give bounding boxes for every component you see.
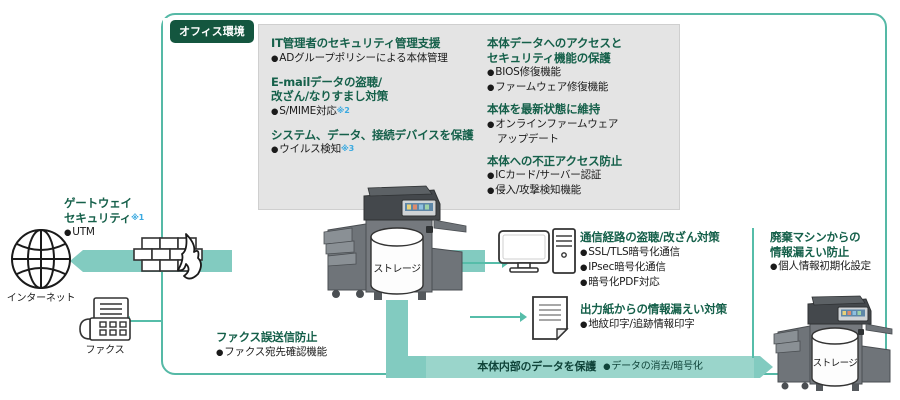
fax-block-heading: ファクス誤送信防止 [216, 330, 327, 345]
connector-arrow-to-paper [520, 312, 527, 322]
group-item: 侵入/攻撃検知機能 [487, 183, 677, 198]
feature-group-email: E-mailデータの盗聴/ 改ざん/なりすまし対策 S/MIME対応※2 [271, 75, 481, 119]
disposal-storage-cylinder: ストレージ [810, 328, 860, 386]
connector-line-fax-horizontal [130, 320, 163, 322]
security-diagram: オフィス環境 IT管理者のセキュリティ管理支援 ADグループポリシーによる本体管… [0, 0, 900, 400]
strip-item: データの消去/暗号化 [603, 360, 703, 374]
group-item: ADグループポリシーによる本体管理 [271, 51, 481, 66]
central-storage-label: ストレージ [369, 260, 425, 275]
group-heading: 本体への不正アクセス防止 [487, 154, 677, 169]
gateway-heading-line-1: ゲートウェイ [64, 196, 144, 211]
server-tower-icon [552, 228, 576, 274]
printed-document-icon [532, 296, 568, 340]
feature-group-system: システム、データ、接続デバイスを保護 ウイルス検知※3 [271, 128, 481, 158]
connector-line-right-vertical [752, 228, 754, 358]
group-heading: 本体を最新状態に維持 [487, 102, 677, 117]
group-heading-line-2: 改ざん/なりすまし対策 [271, 89, 481, 104]
group-item: S/MIME対応※2 [271, 104, 481, 119]
office-environment-badge: オフィス環境 [170, 20, 254, 43]
group-item-continued: アップデート [487, 132, 677, 147]
disposal-storage-label: ストレージ [810, 355, 860, 369]
network-security-block: 通信経路の盗聴/改ざん対策 SSL/TLS暗号化通信 IPsec暗号化通信 暗号… [580, 230, 720, 290]
network-block-item: IPsec暗号化通信 [580, 260, 720, 275]
fax-label: ファクス [70, 344, 140, 357]
internet-globe-icon [10, 228, 72, 290]
central-storage-cylinder: ストレージ [369, 228, 425, 294]
group-heading: システム、データ、接続デバイスを保護 [271, 128, 481, 143]
group-item: ICカード/サーバー認証 [487, 168, 677, 183]
network-block-item: SSL/TLS暗号化通信 [580, 245, 720, 260]
group-item: ファームウェア修復機能 [487, 80, 677, 95]
group-heading-line-1: E-mailデータの盗聴/ [271, 75, 481, 90]
disposal-block-heading-line-1: 廃棄マシンからの [770, 230, 871, 245]
fax-machine-icon [76, 296, 132, 342]
fax-block-item: ファクス宛先確認機能 [216, 345, 327, 360]
group-item: BIOS修復機能 [487, 65, 677, 80]
gateway-heading-text: セキュリティ [64, 211, 131, 225]
footnote-marker: ※3 [341, 144, 354, 153]
disposal-block-heading-line-2: 情報漏えい防止 [770, 245, 871, 260]
feature-group-device-data: 本体データへのアクセスと セキュリティ機能の保護 BIOS修復機能 ファームウェ… [487, 36, 677, 95]
disposal-block-item: 個人情報初期化設定 [770, 259, 871, 274]
footnote-marker: ※2 [337, 106, 350, 115]
gateway-heading-line-2: セキュリティ※1 [64, 211, 144, 226]
internal-data-protection-strip: 本体内部のデータを保護 データの消去/暗号化 [426, 356, 754, 378]
group-item: ウイルス検知※3 [271, 142, 481, 157]
paper-security-block: 出力紙からの情報漏えい対策 地紋印字/追跡情報印字 [580, 302, 727, 332]
item-text: S/MIME対応 [279, 105, 336, 117]
fax-prevention-block: ファクス誤送信防止 ファクス宛先確認機能 [216, 330, 327, 360]
strip-heading: 本体内部のデータを保護 [477, 360, 596, 375]
footnote-marker: ※1 [131, 213, 144, 222]
paper-block-item: 地紋印字/追跡情報印字 [580, 317, 727, 332]
gateway-item: UTM [64, 225, 144, 240]
panel-right-column: 本体データへのアクセスと セキュリティ機能の保護 BIOS修復機能 ファームウェ… [487, 36, 677, 198]
paper-block-heading: 出力紙からの情報漏えい対策 [580, 302, 727, 317]
firewall-icon [140, 228, 208, 290]
item-text: ウイルス検知 [279, 143, 341, 155]
group-heading-line-1: 本体データへのアクセスと [487, 36, 677, 51]
network-block-heading: 通信経路の盗聴/改ざん対策 [580, 230, 720, 245]
group-heading-line-2: セキュリティ機能の保護 [487, 51, 677, 66]
panel-left-column: IT管理者のセキュリティ管理支援 ADグループポリシーによる本体管理 E-mai… [271, 36, 481, 157]
gateway-security-block: ゲートウェイ セキュリティ※1 UTM [64, 196, 144, 240]
network-block-item: 暗号化PDF対応 [580, 275, 720, 290]
disposal-security-block: 廃棄マシンからの 情報漏えい防止 個人情報初期化設定 [770, 230, 871, 274]
internet-label: インターネット [0, 292, 82, 305]
flow-band-mfp-down [386, 300, 408, 362]
client-pc-icon [498, 230, 550, 274]
feature-group-unauthorized-access: 本体への不正アクセス防止 ICカード/サーバー認証 侵入/攻撃検知機能 [487, 154, 677, 199]
connector-line-mfp-paper [470, 316, 520, 318]
feature-group-firmware: 本体を最新状態に維持 オンラインファームウェア アップデート [487, 102, 677, 147]
group-heading: IT管理者のセキュリティ管理支援 [271, 36, 481, 51]
group-item: オンラインファームウェア [487, 117, 677, 132]
feature-group-it-admin: IT管理者のセキュリティ管理支援 ADグループポリシーによる本体管理 [271, 36, 481, 66]
